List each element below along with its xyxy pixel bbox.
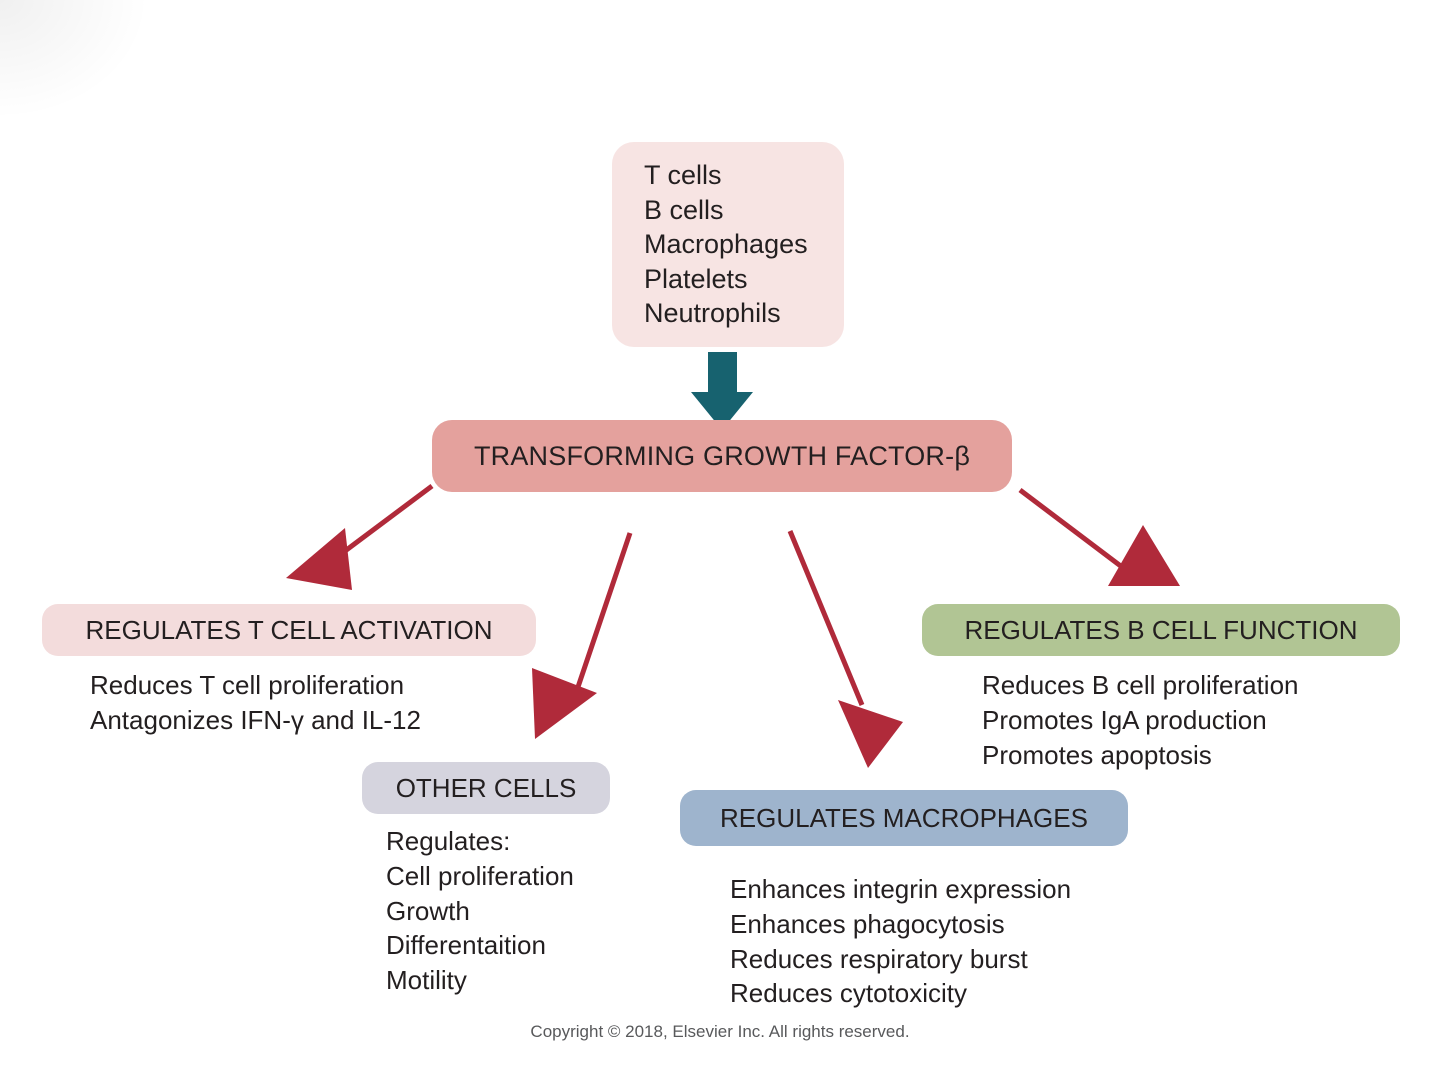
branch-header-macrophages: REGULATES MACROPHAGES xyxy=(680,790,1128,846)
branch-body-macrophages: Enhances integrin expression Enhances ph… xyxy=(730,872,1071,1011)
arrow-to-other-cells xyxy=(532,533,630,739)
branch-line: Differentaition xyxy=(386,928,574,963)
branch-header-t-cell-activation: REGULATES T CELL ACTIVATION xyxy=(42,604,536,656)
source-cell-item: T cells xyxy=(644,158,722,193)
copyright-notice: Copyright © 2018, Elsevier Inc. All righ… xyxy=(0,1022,1440,1042)
source-cell-item: B cells xyxy=(644,193,724,228)
branch-line: Antagonizes IFN-γ and IL-12 xyxy=(90,703,421,738)
branch-line: Reduces cytotoxicity xyxy=(730,976,1071,1011)
branch-body-b-cell-function: Reduces B cell proliferation Promotes Ig… xyxy=(982,668,1299,772)
arrow-to-t-cell-activation xyxy=(286,486,432,590)
branch-line: Reduces T cell proliferation xyxy=(90,668,421,703)
arrow-to-macrophages xyxy=(790,531,903,768)
branch-line: Motility xyxy=(386,963,574,998)
branch-line: Regulates: xyxy=(386,824,574,859)
branch-line: Promotes apoptosis xyxy=(982,738,1299,773)
source-cell-item: Macrophages xyxy=(644,227,808,262)
branch-line: Growth xyxy=(386,894,574,929)
tgf-beta-main-box: TRANSFORMING GROWTH FACTOR-β xyxy=(432,420,1012,492)
branch-line: Cell proliferation xyxy=(386,859,574,894)
branch-header-b-cell-function: REGULATES B CELL FUNCTION xyxy=(922,604,1400,656)
branch-line: Enhances integrin expression xyxy=(730,872,1071,907)
source-cells-box: T cells B cells Macrophages Platelets Ne… xyxy=(612,142,844,347)
branch-line: Reduces respiratory burst xyxy=(730,942,1071,977)
teal-down-arrow xyxy=(691,352,753,430)
branch-line: Promotes IgA production xyxy=(982,703,1299,738)
source-cell-item: Neutrophils xyxy=(644,296,781,331)
source-cell-item: Platelets xyxy=(644,262,748,297)
branch-body-t-cell-activation: Reduces T cell proliferation Antagonizes… xyxy=(90,668,421,738)
arrow-to-b-cell-function xyxy=(1020,490,1180,586)
branch-line: Enhances phagocytosis xyxy=(730,907,1071,942)
branch-body-other-cells: Regulates: Cell proliferation Growth Dif… xyxy=(386,824,574,998)
branch-header-other-cells: OTHER CELLS xyxy=(362,762,610,814)
branch-line: Reduces B cell proliferation xyxy=(982,668,1299,703)
diagram-canvas: T cells B cells Macrophages Platelets Ne… xyxy=(0,0,1440,1080)
tgf-beta-title: TRANSFORMING GROWTH FACTOR-β xyxy=(474,441,970,472)
